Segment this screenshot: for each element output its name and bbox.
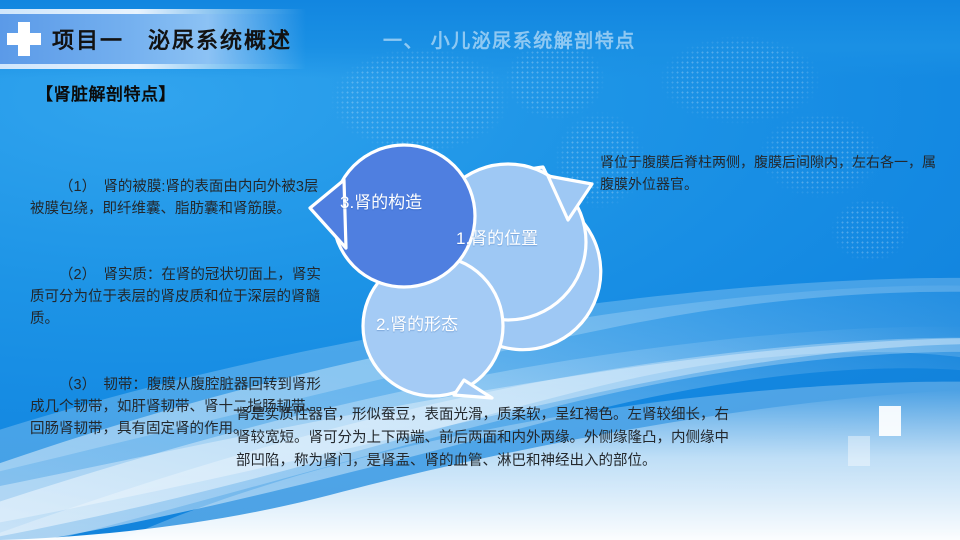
section-heading: 一、 小儿泌尿系统解剖特点 (383, 26, 636, 53)
presentation-slide: 项目一 泌尿系统概述 一、 小儿泌尿系统解剖特点 【肾脏解剖特点】 （1） 肾的… (0, 0, 960, 540)
speech-bubble-diagram: 3.肾的构造 1.肾的位置 2.肾的形态 (296, 108, 626, 408)
bubble-3-shape[interactable] (310, 145, 475, 287)
banner-bottom-rule (0, 64, 306, 69)
bubble-shapes (296, 108, 626, 408)
left-paragraph-2: （2） 肾实质：在肾的冠状切面上，肾实质可分为位于表层的肾皮质和位于深层的肾髓质… (30, 264, 330, 330)
decorative-square-primary (879, 406, 901, 436)
subsection-heading: 【肾脏解剖特点】 (36, 80, 176, 105)
slide-title: 项目一 泌尿系统概述 (52, 23, 292, 55)
bubble-1-label: 1.肾的位置 (456, 224, 538, 249)
right-text-block: 肾位于腹膜后脊柱两侧，腹膜后间隙内，左右各一，属腹膜外位器官。 (600, 152, 940, 195)
decorative-square-secondary (848, 436, 870, 466)
left-paragraph-1: （1） 肾的被膜:肾的表面由内向外被3层被膜包绕，即纤维囊、脂肪囊和肾筋膜。 (30, 176, 330, 220)
bubble-2-label: 2.肾的形态 (376, 310, 458, 335)
bubble-3-label: 3.肾的构造 (340, 188, 422, 213)
bottom-text-block: 肾是实质性器官，形似蚕豆，表面光滑，质柔软，呈红褐色。左肾较细长，右肾较宽短。肾… (236, 404, 736, 474)
medical-cross-icon (6, 21, 42, 57)
title-banner: 项目一 泌尿系统概述 (0, 14, 306, 64)
